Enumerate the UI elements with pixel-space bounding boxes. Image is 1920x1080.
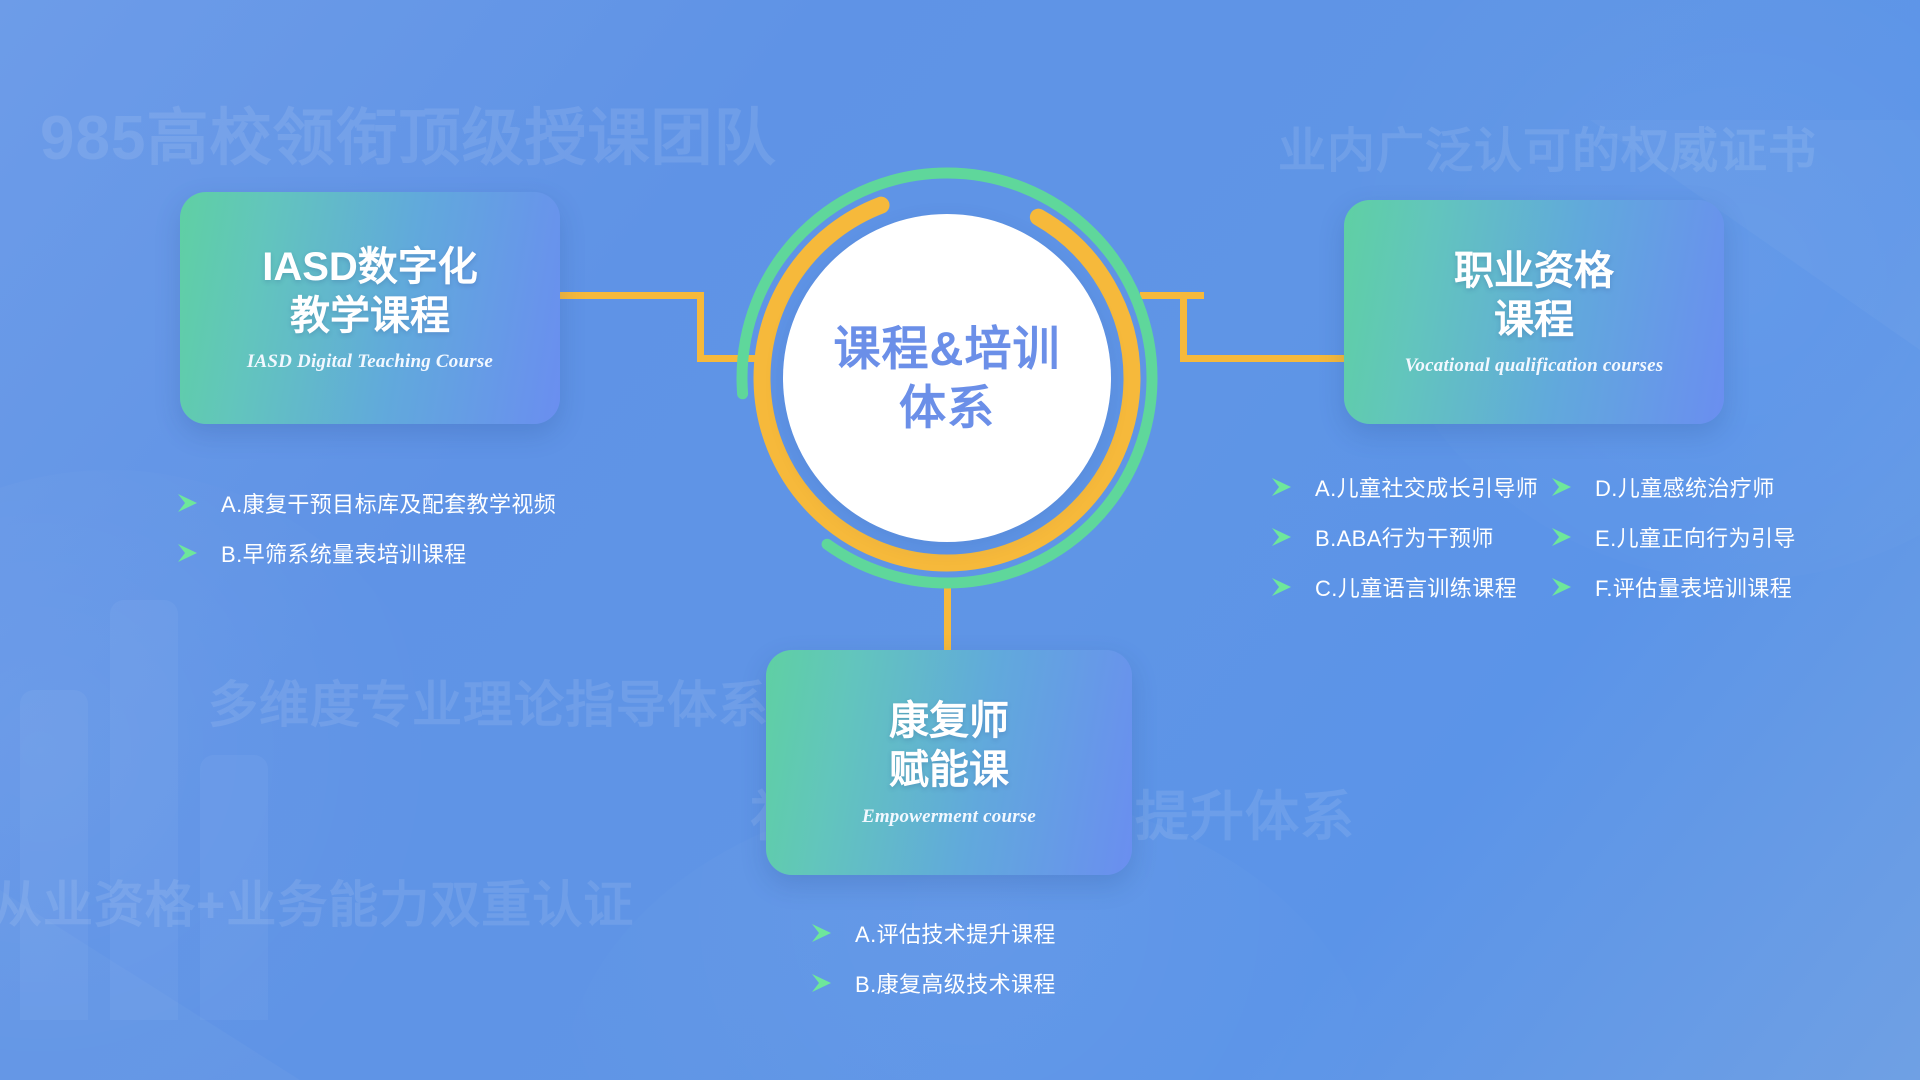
list-item-label: A.康复干预目标库及配套教学视频 bbox=[221, 487, 556, 519]
list-item[interactable]: F.评估量表培训课程 bbox=[1552, 562, 1796, 612]
card-vocational-qualification[interactable]: 职业资格 课程 Vocational qualification courses bbox=[1344, 200, 1724, 424]
hub-title: 课程&培训体系 bbox=[834, 319, 1061, 437]
background-triangle-bottomleft bbox=[0, 890, 300, 1080]
hub-circle: 课程&培训体系 bbox=[727, 158, 1167, 598]
watermark-text-1: 985高校领衔顶级授课团队 bbox=[40, 108, 776, 170]
hub-title-line2: 体系 bbox=[899, 381, 995, 434]
card-left-title: IASD数字化 教学课程 bbox=[262, 243, 478, 341]
card-iasd-digital-teaching[interactable]: IASD数字化 教学课程 IASD Digital Teaching Cours… bbox=[180, 192, 560, 424]
card-right-subtitle: Vocational qualification courses bbox=[1405, 355, 1664, 377]
diagram-canvas: 985高校领衔顶级授课团队 业内广泛认可的权威证书 多维度专业理论指导体系 初中… bbox=[0, 0, 1920, 1080]
list-item-label: B.ABA行为干预师 bbox=[1315, 521, 1494, 553]
list-bottom-card-items: A.评估技术提升课程 B.康复高级技术课程 bbox=[812, 908, 1056, 1008]
connector-left-vertical bbox=[697, 292, 704, 362]
list-left-card-items: A.康复干预目标库及配套教学视频 B.早筛系统量表培训课程 bbox=[178, 478, 556, 578]
card-right-title-line2: 课程 bbox=[1494, 298, 1574, 342]
list-item-label: A.儿童社交成长引导师 bbox=[1315, 471, 1538, 503]
list-item[interactable]: A.评估技术提升课程 bbox=[812, 908, 1056, 958]
connector-left-horizontal-upper bbox=[552, 292, 704, 299]
chevron-right-arrow-icon bbox=[178, 544, 208, 562]
hub-center-disc: 课程&培训体系 bbox=[783, 214, 1111, 542]
card-right-title: 职业资格 课程 bbox=[1454, 247, 1614, 345]
list-item-label: F.评估量表培训课程 bbox=[1595, 571, 1792, 603]
list-right-items-column-2: D.儿童感统治疗师 E.儿童正向行为引导 F.评估量表培训课程 bbox=[1552, 462, 1796, 612]
list-item[interactable]: A.儿童社交成长引导师 bbox=[1272, 462, 1538, 512]
chevron-right-arrow-icon bbox=[1552, 528, 1582, 546]
list-item[interactable]: B.ABA行为干预师 bbox=[1272, 512, 1538, 562]
list-item[interactable]: D.儿童感统治疗师 bbox=[1552, 462, 1796, 512]
list-item-label: B.康复高级技术课程 bbox=[855, 967, 1056, 999]
chevron-right-arrow-icon bbox=[1552, 478, 1582, 496]
card-bottom-title-line2: 赋能课 bbox=[889, 748, 1009, 792]
list-item[interactable]: B.康复高级技术课程 bbox=[812, 958, 1056, 1008]
chevron-right-arrow-icon bbox=[812, 974, 842, 992]
list-item[interactable]: B.早筛系统量表培训课程 bbox=[178, 528, 556, 578]
chevron-right-arrow-icon bbox=[1272, 478, 1302, 496]
card-bottom-subtitle: Empowerment course bbox=[862, 806, 1036, 828]
connector-right-horizontal-lower bbox=[1180, 355, 1348, 362]
list-item-label: B.早筛系统量表培训课程 bbox=[221, 537, 467, 569]
card-empowerment-course[interactable]: 康复师 赋能课 Empowerment course bbox=[766, 650, 1132, 875]
list-right-items-column-1: A.儿童社交成长引导师 B.ABA行为干预师 C.儿童语言训练课程 bbox=[1272, 462, 1538, 612]
chevron-right-arrow-icon bbox=[178, 494, 208, 512]
card-left-subtitle: IASD Digital Teaching Course bbox=[247, 351, 493, 373]
card-right-title-line1: 职业资格 bbox=[1454, 249, 1614, 293]
list-item[interactable]: C.儿童语言训练课程 bbox=[1272, 562, 1538, 612]
card-bottom-title-line1: 康复师 bbox=[889, 699, 1009, 743]
list-item-label: A.评估技术提升课程 bbox=[855, 917, 1056, 949]
chevron-right-arrow-icon bbox=[1272, 578, 1302, 596]
list-item[interactable]: A.康复干预目标库及配套教学视频 bbox=[178, 478, 556, 528]
card-left-title-line1: IASD数字化 bbox=[262, 245, 478, 289]
watermark-text-3: 多维度专业理论指导体系 bbox=[208, 680, 769, 730]
list-item-label: D.儿童感统治疗师 bbox=[1595, 471, 1775, 503]
list-item-label: E.儿童正向行为引导 bbox=[1595, 521, 1796, 553]
card-bottom-title: 康复师 赋能课 bbox=[889, 697, 1009, 795]
list-item-label: C.儿童语言训练课程 bbox=[1315, 571, 1517, 603]
chevron-right-arrow-icon bbox=[812, 924, 842, 942]
chevron-right-arrow-icon bbox=[1552, 578, 1582, 596]
connector-right-vertical bbox=[1180, 292, 1187, 362]
list-item[interactable]: E.儿童正向行为引导 bbox=[1552, 512, 1796, 562]
chevron-right-arrow-icon bbox=[1272, 528, 1302, 546]
card-left-title-line2: 教学课程 bbox=[290, 294, 450, 338]
hub-title-line1: 课程&培训 bbox=[834, 322, 1061, 375]
